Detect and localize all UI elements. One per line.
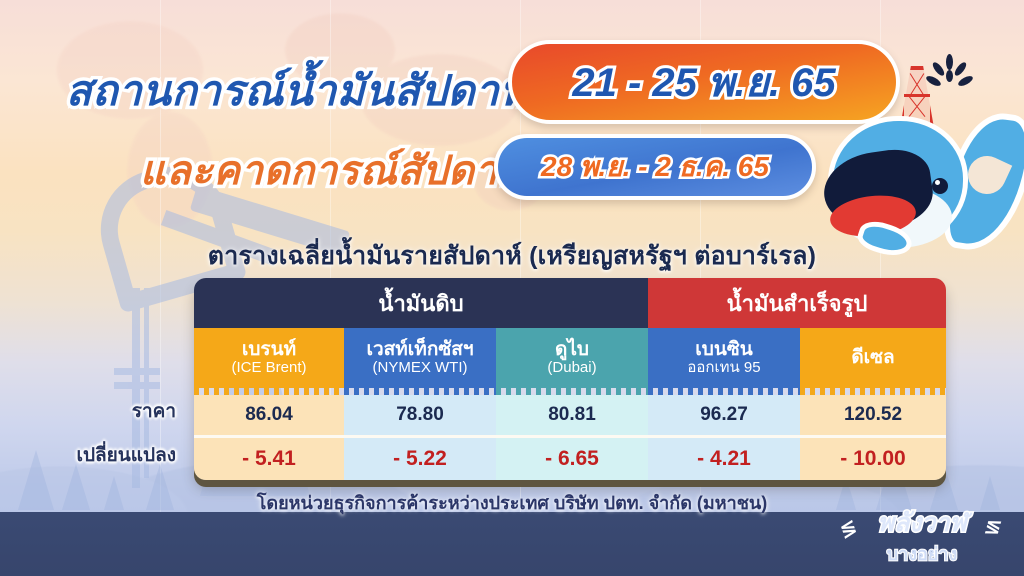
column-name: เวสท์เท็กซัสฯ — [367, 340, 474, 361]
water-spout-icon — [930, 54, 976, 94]
column-name: ดูไบ — [555, 340, 589, 361]
badge-forecast-week: 28 พ.ย. - 2 ธ.ค. 65 — [494, 134, 816, 200]
column-header-wti: เวสท์เท็กซัสฯ (NYMEX WTI) — [344, 328, 496, 388]
page-title-line2: และคาดการณ์สัปดาห์ — [140, 138, 524, 202]
whale-eye — [932, 178, 948, 194]
table-caption: ตารางเฉลี่ยน้ำมันรายสัปดาห์ (เหรียญสหรัฐ… — [0, 236, 1024, 276]
pumpjack-clamp — [114, 382, 160, 389]
pumpjack-clamp — [114, 368, 160, 375]
row-label-change: เปลี่ยนแปลง — [76, 440, 176, 470]
cell-price-brent: 86.04 — [194, 395, 344, 435]
column-header-dubai: ดูไบ (Dubai) — [496, 328, 648, 388]
logo-line2: บางอย่าง — [887, 539, 958, 568]
cell-change-dubai: - 6.65 — [496, 438, 648, 480]
row-label-price: ราคา — [132, 396, 176, 426]
group-header-refined: น้ำมันสำเร็จรูป — [648, 278, 946, 328]
column-sub: (NYMEX WTI) — [373, 360, 468, 376]
infographic-canvas: สถานการณ์น้ำมันสัปดาห์ และคาดการณ์สัปดาห… — [0, 0, 1024, 576]
column-header-diesel: ดีเซล — [800, 328, 946, 388]
column-sub: (Dubai) — [547, 360, 596, 376]
column-name: ดีเซล — [851, 348, 894, 369]
cell-change-diesel: - 10.00 — [800, 438, 946, 480]
cell-change-wti: - 5.22 — [344, 438, 496, 480]
table-row: - 5.41 - 5.22 - 6.65 - 4.21 - 10.00 — [194, 438, 946, 480]
table-column-header-row: เบรนท์ (ICE Brent) เวสท์เท็กซัสฯ (NYMEX … — [194, 328, 946, 388]
cell-change-brent: - 5.41 — [194, 438, 344, 480]
cell-change-gasoline: - 4.21 — [648, 438, 800, 480]
column-name: เบนซิน — [695, 340, 752, 361]
brand-logo: ≶ ≶ พลังวาฬ บางอย่าง — [838, 504, 1006, 566]
table-group-header-row: น้ำมันดิบ น้ำมันสำเร็จรูป — [194, 278, 946, 328]
cell-price-dubai: 80.81 — [496, 395, 648, 435]
table-scallop-divider — [194, 388, 946, 395]
oil-price-table: น้ำมันดิบ น้ำมันสำเร็จรูป เบรนท์ (ICE Br… — [194, 278, 946, 480]
group-header-crude: น้ำมันดิบ — [194, 278, 648, 328]
column-sub: ออกเทน 95 — [687, 360, 760, 376]
cell-price-diesel: 120.52 — [800, 395, 946, 435]
column-name: เบรนท์ — [242, 340, 296, 361]
cell-price-gasoline: 96.27 — [648, 395, 800, 435]
page-title-line1: สถานการณ์น้ำมันสัปดาห์ — [66, 58, 527, 124]
column-header-gasoline: เบนซิน ออกเทน 95 — [648, 328, 800, 388]
logo-line1: พลังวาฬ — [877, 503, 966, 543]
column-header-brent: เบรนท์ (ICE Brent) — [194, 328, 344, 388]
logo-fin-right-icon: ≶ — [982, 512, 1005, 541]
cell-price-wti: 78.80 — [344, 395, 496, 435]
table-row: 86.04 78.80 80.81 96.27 120.52 — [194, 395, 946, 435]
logo-fin-left-icon: ≶ — [837, 514, 861, 543]
column-sub: (ICE Brent) — [231, 360, 306, 376]
